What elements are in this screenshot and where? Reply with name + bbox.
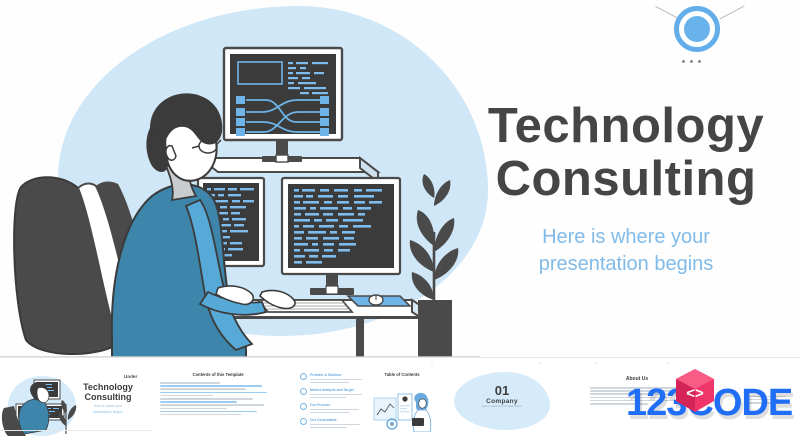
- thumb-title-text: Technology Consulting Here is where your…: [68, 382, 148, 415]
- section-sub: Here is where this template begins: [454, 405, 550, 408]
- thumb-subtitle-line1: Here is where your: [68, 404, 148, 408]
- thumb-title-line2: Consulting: [68, 392, 148, 402]
- subtitle: Here is where your presentation begins: [476, 224, 776, 278]
- monitor-right: [282, 178, 400, 295]
- list-item[interactable]: Contents of this Template: [152, 364, 284, 436]
- hero-slide: Technology Consulting Here is where your…: [0, 0, 800, 358]
- thumb-toc-illustration: [372, 386, 432, 432]
- toc-item-label: Problem & Solution: [310, 373, 366, 377]
- code-brackets-cube-icon: <>: [674, 368, 716, 414]
- toc-item-label: Our Consultants: [310, 418, 366, 422]
- page-title-line2: Consulting: [476, 153, 776, 206]
- toc-item-label: Market Analysis and Target: [310, 388, 366, 392]
- subtitle-line2: presentation begins: [476, 251, 776, 278]
- subtitle-line1: Here is where your: [476, 224, 776, 251]
- list-item[interactable]: Problem & Solution Market Analysis and T…: [284, 364, 432, 436]
- presentation-preview: Technology Consulting Here is where your…: [0, 0, 800, 440]
- title-block: Technology Consulting Here is where your…: [476, 100, 776, 278]
- toc-item-label: Our Process: [310, 403, 366, 407]
- node-decoration: [660, 2, 740, 72]
- node-core-icon: [684, 16, 710, 42]
- hero-illustration: [0, 0, 480, 358]
- section-label: Company: [454, 398, 550, 405]
- thumb-subtitle-line2: presentation begins: [68, 410, 148, 414]
- three-dots-icon: [682, 60, 701, 63]
- toc-bullet-icon: [300, 373, 307, 380]
- thumb-contents-heading: Contents of this Template: [160, 372, 276, 377]
- section-number: 01: [454, 384, 550, 398]
- monitor-top: [224, 48, 342, 162]
- thumb-toc-list: Problem & Solution Market Analysis and T…: [300, 373, 366, 430]
- toc-bullet-icon: [300, 388, 307, 395]
- toc-bullet-icon: [300, 403, 307, 410]
- page-title-line1: Technology: [476, 100, 776, 153]
- node-connector-line: [719, 5, 744, 19]
- potted-plant: [410, 174, 459, 358]
- thumb-toc-heading: Table of Contents: [374, 372, 430, 377]
- list-item[interactable]: 01 Company Here is where this template b…: [432, 364, 568, 436]
- watermark-logo: 123CODE 123CODE <>: [626, 378, 800, 434]
- toc-bullet-icon: [300, 418, 307, 425]
- thumb-title-line1: Technology: [68, 382, 148, 392]
- node-connector-line: [655, 6, 678, 19]
- thumb-under-heading: Under: [124, 374, 137, 379]
- code-glyph: <>: [686, 385, 704, 402]
